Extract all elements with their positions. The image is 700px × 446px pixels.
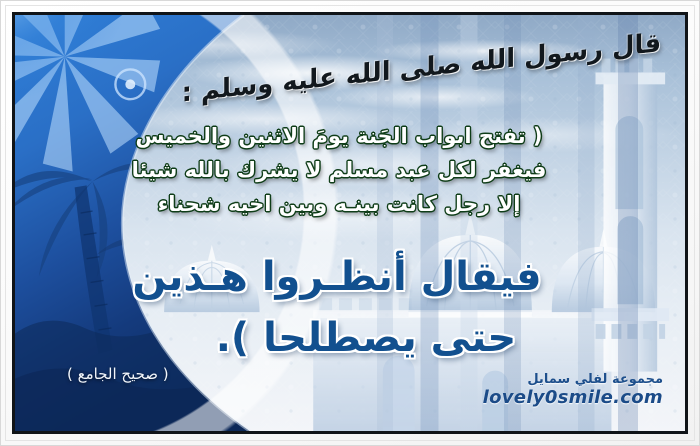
hadith-line-1: ( تفتح ابواب الجَنة يومَ الاثنين والخميس [15,119,663,153]
card-inner-border: قال رسول الله صلى الله عليه وسلم : ( تفت… [12,12,688,434]
watermark-arabic-label: مجموعة لفلي سمايل [483,373,663,388]
source-attribution: ( صحيح الجامع ) [67,365,169,383]
hadith-line-2: فيغفر لكل عبد مسلم لا يشرك بالله شيئا [15,153,663,187]
hadith-attribution-header: قال رسول الله صلى الله عليه وسلم : [181,29,661,108]
hadith-line-3: إلا رجل كانت بينـه وبين اخيه شحناء [15,187,663,221]
emphasis-line-2: حتى يصطلحا ). [15,308,659,369]
emphasis-line-1: فيقال أنظـروا هـذين [15,247,659,308]
site-watermark[interactable]: مجموعة لفلي سمايل lovely0smile.com [483,373,663,409]
hadith-emphasis-text: فيقال أنظـروا هـذين حتى يصطلحا ). [15,247,659,369]
card-frame: قال رسول الله صلى الله عليه وسلم : ( تفت… [0,0,700,446]
hadith-body-text: ( تفتح ابواب الجَنة يومَ الاثنين والخميس… [15,119,663,221]
watermark-url-label[interactable]: lovely0smile.com [483,388,663,409]
card-content: قال رسول الله صلى الله عليه وسلم : ( تفت… [15,15,685,431]
